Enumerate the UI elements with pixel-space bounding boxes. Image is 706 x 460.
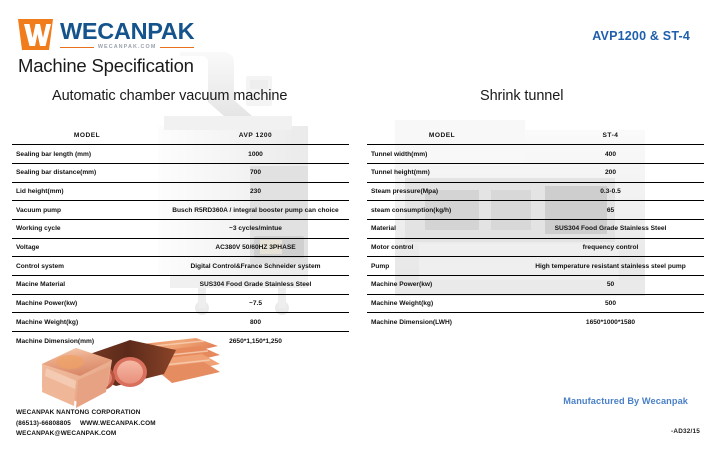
spec-param-label: Lid height(mm) — [12, 182, 162, 201]
footer-contact-block: WECANPAK NANTONG CORPORATION (86513)-668… — [16, 408, 163, 440]
spec-param-label: Machine Power(kw) — [367, 276, 517, 295]
spec-param-value: ~3 cycles/mintue — [162, 219, 349, 238]
spec-table-shrink-tunnel: MODELST-4Tunnel width(mm)400Tunnel heigh… — [367, 126, 704, 332]
footer-website[interactable]: WWW.WECANPAK.COM — [80, 420, 156, 427]
spec-param-label: Machine Dimension(LWH) — [367, 313, 517, 332]
spec-header-model: MODEL — [12, 126, 162, 145]
spec-row: Machine Weight(kg)500 — [367, 294, 704, 313]
footer-email[interactable]: WECANPAK@WECANPAK.COM — [16, 429, 163, 440]
spec-row: steam consumption(kg/h)65 — [367, 201, 704, 220]
spec-param-label: Voltage — [12, 238, 162, 257]
spec-param-label: Steam pressure(Mpa) — [367, 182, 517, 201]
logo-rule-right — [160, 47, 194, 48]
spec-row: Sealing bar distance(mm)700 — [12, 163, 349, 182]
spec-row: Tunnel height(mm)200 — [367, 163, 704, 182]
spec-param-label: Sealing bar distance(mm) — [12, 163, 162, 182]
spec-row: Machine Power(kw)50 — [367, 276, 704, 295]
spec-param-value: 1650*1000*1580 — [517, 313, 704, 332]
spec-param-value: 65 — [517, 201, 704, 220]
spec-param-value: High temperature resistant stainless ste… — [517, 257, 704, 276]
spec-header-row-left: MODELAVP 1200 — [12, 126, 349, 145]
spec-row: MaterialSUS304 Food Grade Stainless Stee… — [367, 219, 704, 238]
spec-header-model-value: AVP 1200 — [162, 126, 349, 145]
spec-row: Motor controlfrequency control — [367, 238, 704, 257]
spec-param-label: Sealing bar length (mm) — [12, 145, 162, 164]
spec-param-value: 0.3-0.5 — [517, 182, 704, 201]
spec-param-value: 230 — [162, 182, 349, 201]
logo-wordmark: WECANPAK — [60, 20, 194, 43]
spec-row: Machine Power(kw)~7.5 — [12, 294, 349, 313]
spec-param-label: Material — [367, 219, 517, 238]
spec-param-label: Tunnel height(mm) — [367, 163, 517, 182]
spec-param-value: ~7.5 — [162, 294, 349, 313]
spec-param-label: steam consumption(kg/h) — [367, 201, 517, 220]
spec-param-label: Vacuum pump — [12, 201, 162, 220]
spec-param-value: AC380V 50/60HZ 3PHASE — [162, 238, 349, 257]
spec-row: PumpHigh temperature resistant stainless… — [367, 257, 704, 276]
page-title: Machine Specification — [18, 55, 194, 77]
spec-row: Steam pressure(Mpa)0.3-0.5 — [367, 182, 704, 201]
spec-param-value: Busch R5RD360A / integral booster pump c… — [162, 201, 349, 220]
spec-param-value: SUS304 Food Grade Stainless Steel — [517, 219, 704, 238]
spec-param-value: Digital Control&France Schneider system — [162, 257, 349, 276]
spec-param-value: frequency control — [517, 238, 704, 257]
spec-table-vacuum-machine: MODELAVP 1200Sealing bar length (mm)1000… — [12, 126, 349, 350]
spec-row: VoltageAC380V 50/60HZ 3PHASE — [12, 238, 349, 257]
product-photo-deli-meat — [34, 322, 230, 408]
spec-row: Macine MaterialSUS304 Food Grade Stainle… — [12, 276, 349, 295]
spec-table-right-body: MODELST-4Tunnel width(mm)400Tunnel heigh… — [367, 126, 704, 332]
footer-phone: (86513)-66808805 — [16, 420, 71, 427]
specification-sheet: WECANPAK WECANPAK.COM AVP1200 & ST-4 Mac… — [0, 0, 706, 460]
spec-param-value: 50 — [517, 276, 704, 295]
page-code-label: -AD32/15 — [671, 428, 700, 435]
manufactured-by-label: Manufactured By Wecanpak — [563, 396, 688, 406]
spec-param-value: 700 — [162, 163, 349, 182]
footer-company: WECANPAK NANTONG CORPORATION — [16, 408, 163, 419]
document-model-code: AVP1200 & ST-4 — [592, 29, 690, 43]
spec-param-label: Control system — [12, 257, 162, 276]
spec-row: Tunnel width(mm)400 — [367, 145, 704, 164]
spec-row: Sealing bar length (mm)1000 — [12, 145, 349, 164]
spec-param-value: SUS304 Food Grade Stainless Steel — [162, 276, 349, 295]
spec-param-label: Machine Power(kw) — [12, 294, 162, 313]
spec-param-label: Pump — [367, 257, 517, 276]
company-logo: WECANPAK WECANPAK.COM — [18, 19, 194, 50]
section-title-right: Shrink tunnel — [480, 88, 563, 104]
spec-param-label: Tunnel width(mm) — [367, 145, 517, 164]
spec-row: Working cycle~3 cycles/mintue — [12, 219, 349, 238]
spec-row: Vacuum pumpBusch R5RD360A / integral boo… — [12, 201, 349, 220]
spec-row: Machine Dimension(LWH)1650*1000*1580 — [367, 313, 704, 332]
spec-row: Control systemDigital Control&France Sch… — [12, 257, 349, 276]
spec-table-left-body: MODELAVP 1200Sealing bar length (mm)1000… — [12, 126, 349, 350]
spec-param-label: Working cycle — [12, 219, 162, 238]
spec-param-value: 200 — [517, 163, 704, 182]
spec-param-value: 1000 — [162, 145, 349, 164]
spec-param-label: Motor control — [367, 238, 517, 257]
spec-header-model-value: ST-4 — [517, 126, 704, 145]
logo-rule-left — [60, 47, 94, 48]
logo-domain: WECANPAK.COM — [94, 44, 161, 50]
section-title-left: Automatic chamber vacuum machine — [52, 88, 287, 104]
spec-header-model: MODEL — [367, 126, 517, 145]
w-mark-icon — [18, 19, 53, 50]
spec-param-label: Macine Material — [12, 276, 162, 295]
spec-row: Lid height(mm)230 — [12, 182, 349, 201]
spec-header-row-right: MODELST-4 — [367, 126, 704, 145]
spec-param-value: 500 — [517, 294, 704, 313]
spec-param-label: Machine Weight(kg) — [367, 294, 517, 313]
footer-phone-web: (86513)-66808805 WWW.WECANPAK.COM — [16, 419, 163, 430]
spec-param-value: 400 — [517, 145, 704, 164]
